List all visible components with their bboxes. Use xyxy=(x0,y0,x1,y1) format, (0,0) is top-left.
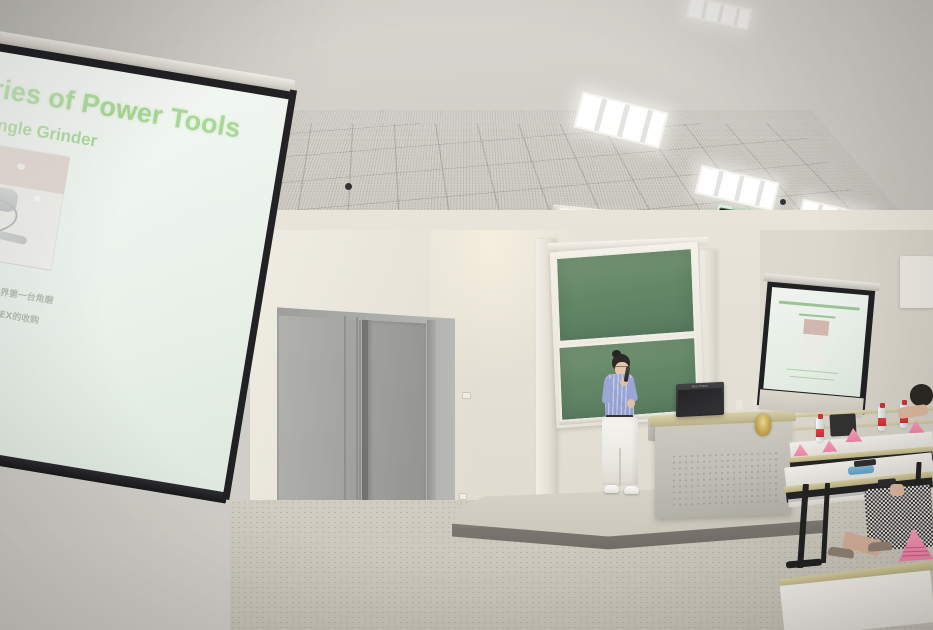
secondary-screen-face xyxy=(763,287,869,397)
classroom-photo-scene: 欢迎光临 xyxy=(0,0,933,630)
power-outlet-plate[interactable] xyxy=(459,493,467,500)
presenter-shoe-right xyxy=(624,486,639,494)
school-crest-emblem-icon xyxy=(755,414,771,436)
tent-card-text-line xyxy=(903,555,930,557)
seated-person-shoe-2 xyxy=(868,541,893,552)
slide-image-angle-grinder xyxy=(0,135,70,271)
bottle-cap xyxy=(902,400,907,405)
slide-body-line-1: ，德国FLEX发明世界第一台角磨 xyxy=(0,272,55,307)
bottle-label xyxy=(878,418,886,426)
monitor-screen xyxy=(678,388,722,415)
secondary-projection-screen xyxy=(757,282,875,415)
presenter-shoe-left xyxy=(604,485,619,493)
water-bottle xyxy=(878,407,886,431)
wall-cabinet-right xyxy=(900,256,933,308)
lectern-vent-grille xyxy=(671,450,781,510)
secondary-slide-body-line-2 xyxy=(790,376,835,381)
bottle-label xyxy=(816,429,824,437)
paper-cup xyxy=(736,400,743,410)
lectern-body xyxy=(655,416,791,519)
seated-person-hand xyxy=(890,484,904,496)
trouser-center-seam xyxy=(619,448,621,486)
presenter-hand-lower xyxy=(627,399,635,408)
secondary-slide-image xyxy=(801,318,830,365)
tent-card-text-line xyxy=(902,551,929,553)
bottle-cap xyxy=(880,403,885,408)
ceiling-sensor-icon xyxy=(345,183,352,190)
bottle-cap xyxy=(818,414,823,419)
secondary-slide-title-line xyxy=(779,301,860,311)
light-switch-plate[interactable] xyxy=(462,392,471,399)
secondary-slide-body-line-1 xyxy=(786,368,838,374)
chalkboard-panel-upper xyxy=(555,247,696,343)
tent-card-text-line xyxy=(902,547,929,549)
water-bottle xyxy=(816,418,824,442)
photo-highlight xyxy=(33,195,41,202)
grinder-body-shape xyxy=(0,182,19,213)
screen-projection-surface: egories of Power Tools 角磨 Angle Grinder … xyxy=(0,48,292,495)
photo-highlight xyxy=(17,163,26,170)
seated-person-head xyxy=(910,384,933,406)
lectern-monitor: Aoc Power xyxy=(676,382,724,418)
ceiling-camera-icon xyxy=(780,199,786,205)
